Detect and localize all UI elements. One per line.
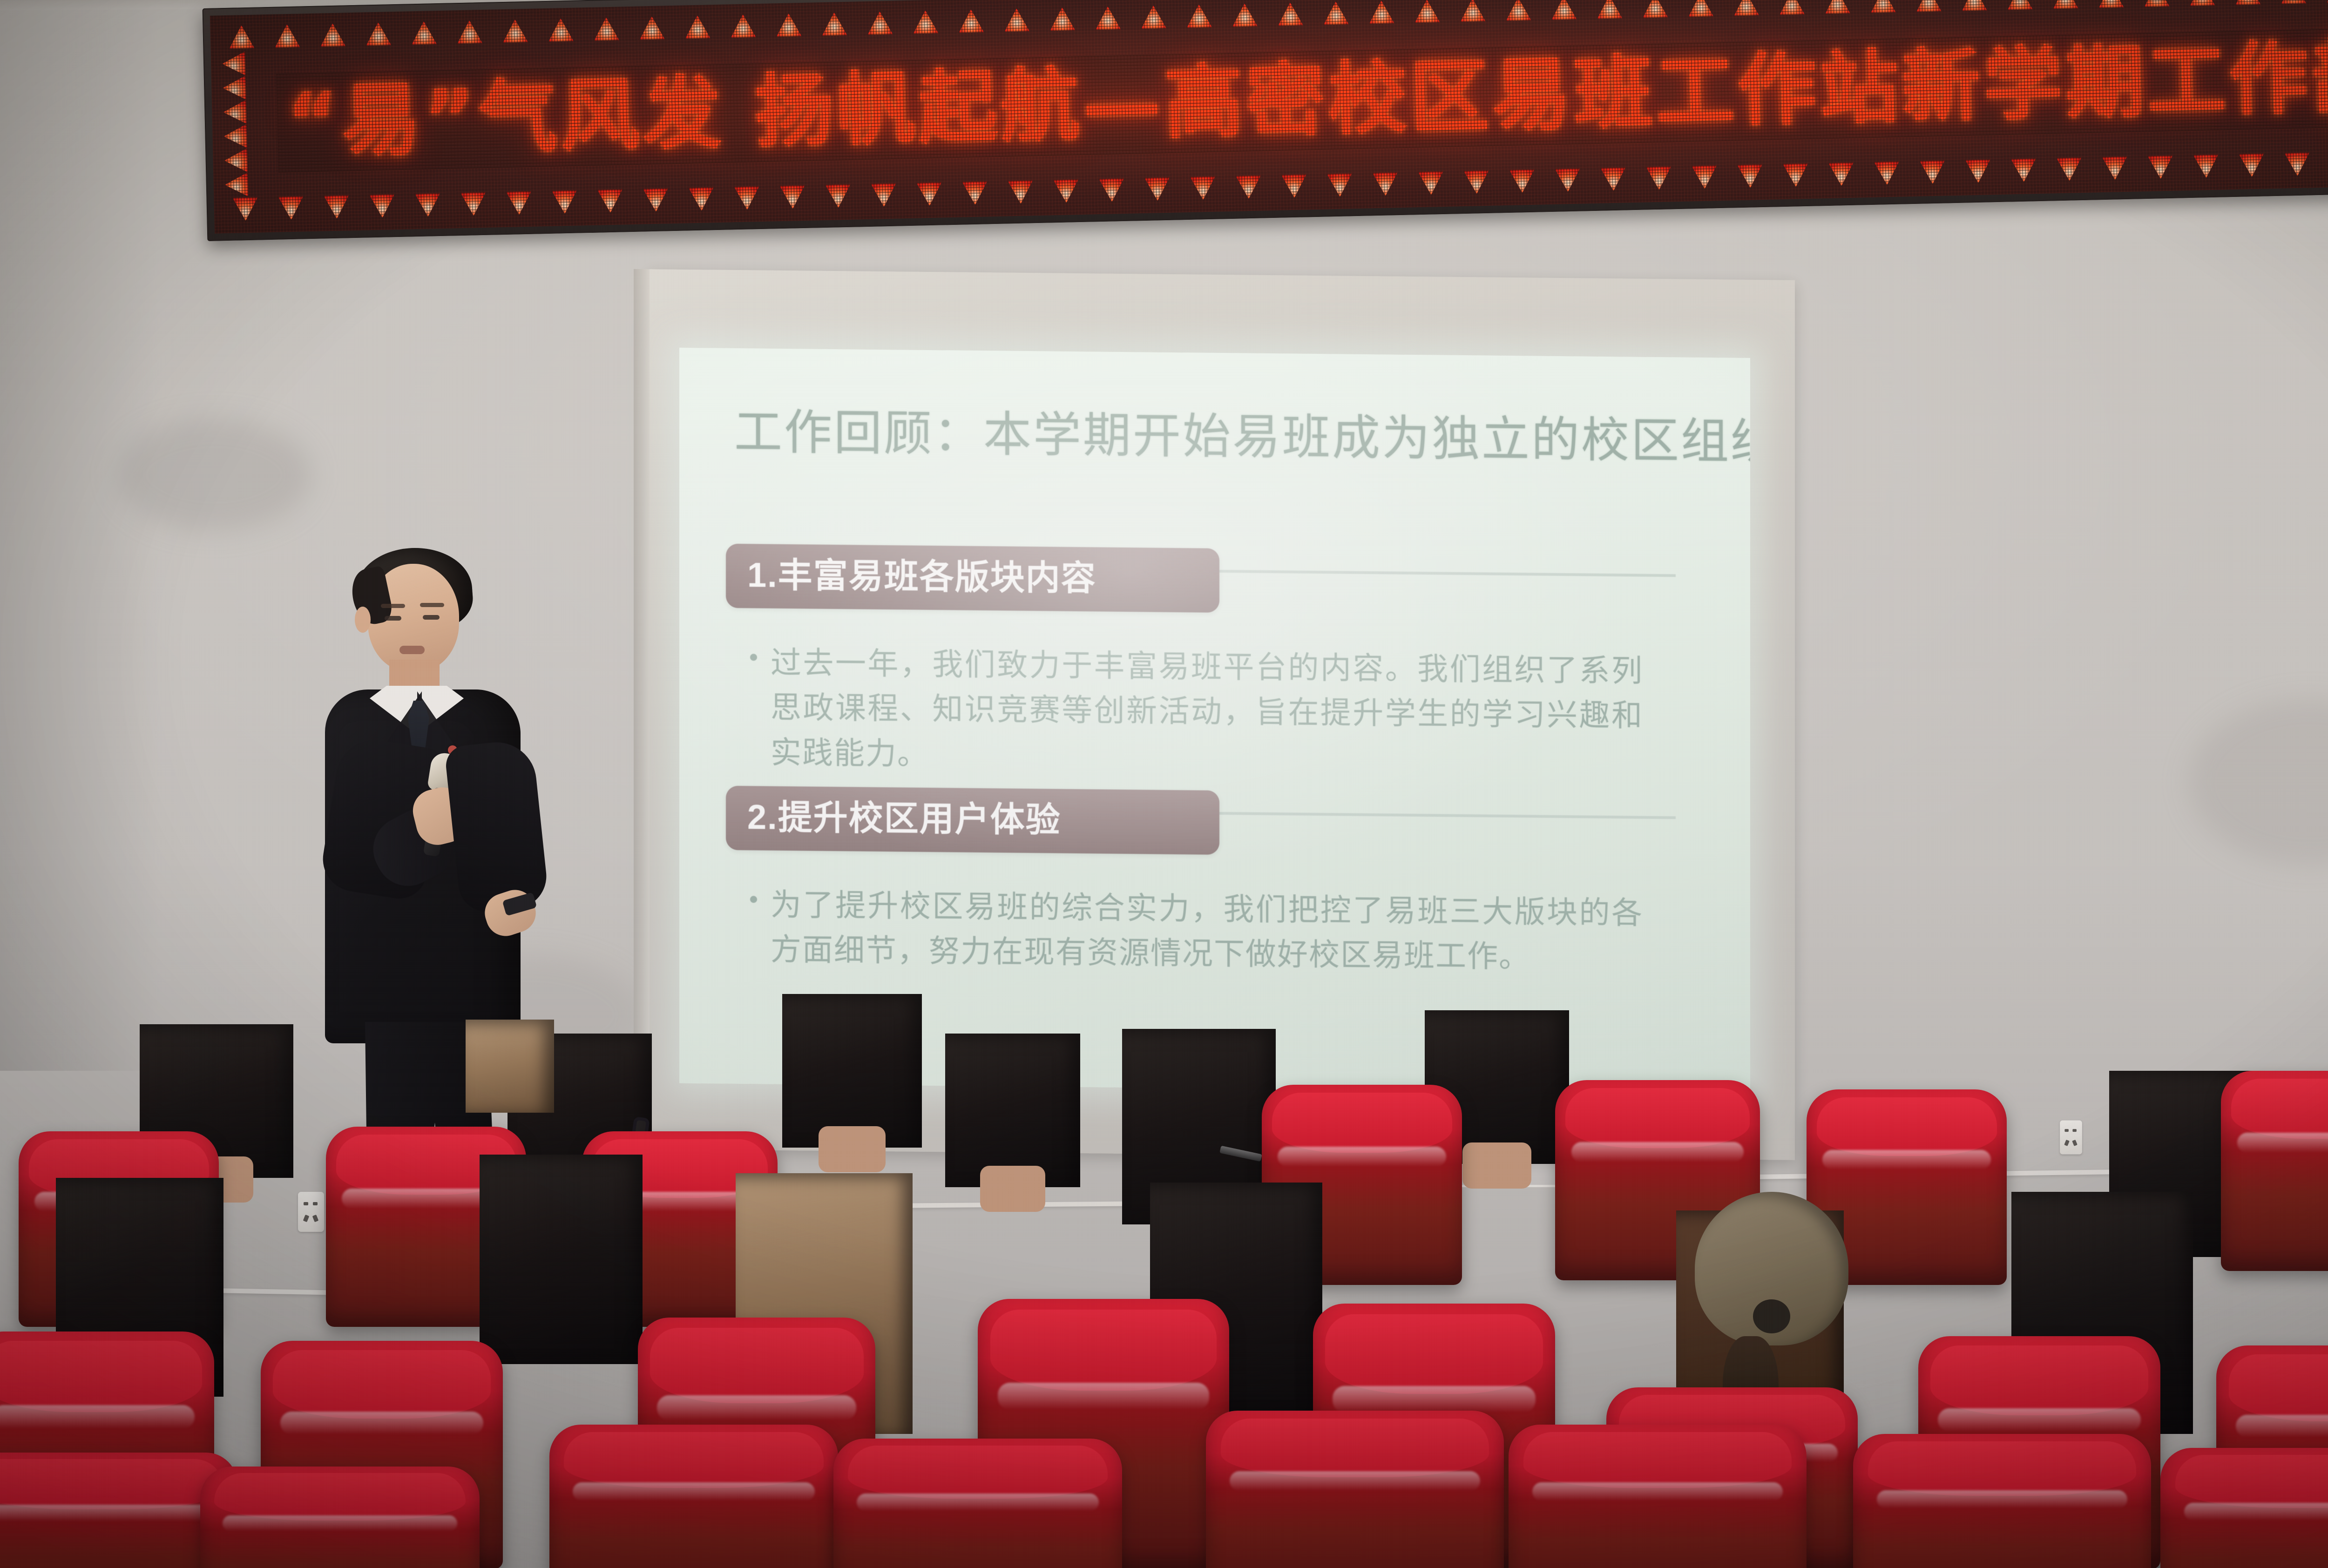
auditorium-seat <box>833 1439 1122 1568</box>
baseball-cap-icon <box>1695 1192 1848 1345</box>
audience-head <box>945 1034 1080 1187</box>
slide-section-2-body: 为了提升校区易班的综合实力，我们把控了易班三大版块的各方面细节，努力在现有资源情… <box>771 882 1643 980</box>
led-banner-text: “易”气风发 扬帆起航—高密校区易班工作站新学期工作部署会 <box>286 38 2328 163</box>
slide-content: 工作回顾：本学期开始易班成为独立的校区组织 1.丰富易班各版块内容 过去一年，我… <box>679 348 1750 1094</box>
led-chase-lights-left <box>222 51 249 197</box>
slide-section-2-body-text: 为了提升校区易班的综合实力，我们把控了易班三大版块的各方面细节，努力在现有资源情… <box>771 887 1643 974</box>
presenter-eye <box>385 616 401 621</box>
bullet-point-icon <box>750 654 757 661</box>
slide-section-1-body-text: 过去一年，我们致力于丰富易班平台的内容。我们组织了系列思政课程、知识竞赛等创新活… <box>771 645 1643 771</box>
slide-section-1-body: 过去一年，我们致力于丰富易班平台的内容。我们组织了系列思政课程、知识竞赛等创新活… <box>771 640 1643 783</box>
slide-section-2-heading: 2.提升校区用户体验 <box>726 786 1219 855</box>
auditorium-seat <box>200 1467 480 1568</box>
presenter-eyebrow <box>420 603 444 607</box>
auditorium-seat <box>549 1425 838 1568</box>
bullet-point-icon <box>750 896 757 903</box>
audience-head <box>466 1020 554 1113</box>
projection-screen-edge <box>634 269 650 1149</box>
slide-section-2: 2.提升校区用户体验 为了提升校区易班的综合实力，我们把控了易班三大版块的各方面… <box>679 785 1750 796</box>
slide-section-1-heading: 1.丰富易班各版块内容 <box>726 544 1219 613</box>
audience-head <box>480 1155 643 1364</box>
slide-section-1: 1.丰富易班各版块内容 过去一年，我们致力于丰富易班平台的内容。我们组织了系列思… <box>679 543 1750 554</box>
photo-scene: “易”气风发 扬帆起航—高密校区易班工作站新学期工作部署会 工作回顾：本学期开始… <box>0 0 2328 1568</box>
presenter-arm-left <box>444 738 550 914</box>
presenter-mouth <box>399 646 425 654</box>
auditorium-seat <box>1509 1425 1807 1568</box>
presenter-ear <box>355 607 371 633</box>
auditorium-seat <box>2160 1448 2328 1568</box>
slide-title: 工作回顾：本学期开始易班成为独立的校区组织 <box>734 405 1713 468</box>
wall-shading-left <box>0 0 158 1071</box>
presenter-eyebrow <box>381 604 405 608</box>
power-outlet <box>2060 1120 2082 1154</box>
projected-slide: 工作回顾：本学期开始易班成为独立的校区组织 1.丰富易班各版块内容 过去一年，我… <box>679 348 1750 1094</box>
audience-head <box>782 994 922 1148</box>
presenter-eye <box>423 615 440 620</box>
auditorium-seat <box>2221 1071 2328 1271</box>
auditorium-seat <box>1853 1434 2151 1568</box>
auditorium-seat <box>1206 1411 1504 1568</box>
